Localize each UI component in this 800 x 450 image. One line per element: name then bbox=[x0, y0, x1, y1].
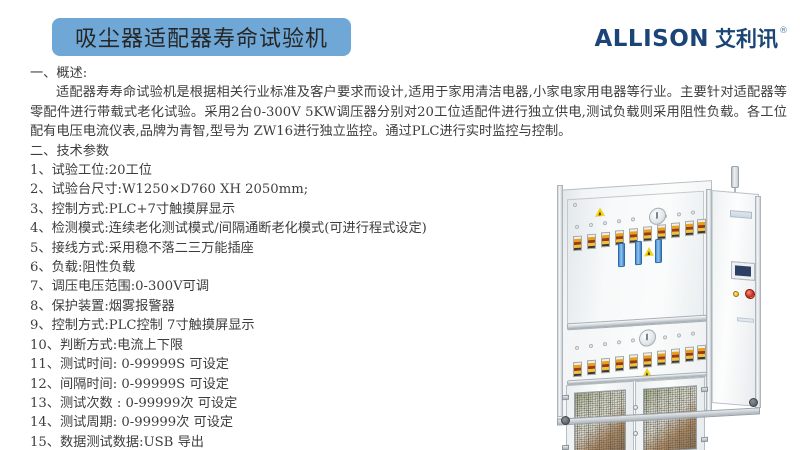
touchscreen-display[interactable] bbox=[732, 262, 754, 280]
frame-post-mid bbox=[706, 189, 712, 415]
panel-hole bbox=[589, 344, 593, 348]
adapter-under-test bbox=[618, 243, 625, 267]
door-hinge bbox=[562, 445, 569, 450]
warning-triangle-icon bbox=[644, 247, 654, 257]
company-logo: ALLISON 艾利讯 ® bbox=[594, 28, 788, 51]
panel-hole bbox=[631, 338, 635, 342]
socket-module bbox=[573, 362, 582, 378]
socket-module bbox=[587, 234, 596, 250]
socket-module bbox=[601, 358, 610, 374]
socket-module bbox=[615, 356, 624, 372]
tower-light-icon bbox=[731, 166, 739, 188]
panel-hole bbox=[617, 219, 621, 223]
socket-module bbox=[573, 236, 582, 252]
socket-module bbox=[601, 232, 610, 248]
panel-hole bbox=[677, 212, 681, 216]
logo-chinese-text: 艾利讯 bbox=[715, 28, 778, 51]
frame-post-left bbox=[557, 185, 563, 417]
socket-module bbox=[671, 348, 680, 364]
door-hinge bbox=[562, 395, 569, 400]
control-knob bbox=[639, 328, 656, 347]
socket-module bbox=[643, 352, 652, 368]
panel-hole bbox=[603, 342, 607, 346]
socket-module bbox=[629, 354, 638, 370]
adapter-under-test bbox=[635, 241, 642, 265]
panel-hole bbox=[631, 217, 635, 221]
slide-page: 吸尘器适配器寿命试验机 ALLISON 艾利讯 ® 一、概述: 适配器寿寿命试验… bbox=[0, 0, 800, 450]
test-machine-illustration bbox=[487, 163, 790, 450]
panel-hole bbox=[677, 333, 681, 337]
door-hinge bbox=[701, 387, 708, 392]
registered-trademark-icon: ® bbox=[779, 26, 788, 36]
panel-hole bbox=[573, 203, 577, 207]
overview-paragraph: 适配器寿寿命试验机是根据相关行业标准及客户要求而设计,适用于家用清洁电器,小家电… bbox=[30, 83, 787, 141]
logo-latin-text: ALLISON bbox=[594, 28, 709, 51]
adapter-under-test bbox=[655, 239, 662, 263]
page-title-banner: 吸尘器适配器寿命试验机 bbox=[52, 18, 351, 56]
panel-hole bbox=[691, 331, 695, 335]
machine-photo bbox=[487, 163, 790, 450]
warning-triangle-icon bbox=[595, 207, 605, 217]
panel-hole bbox=[691, 210, 695, 214]
panel-hole bbox=[617, 340, 621, 344]
socket-module bbox=[657, 224, 666, 240]
panel-hole bbox=[575, 346, 579, 350]
socket-module bbox=[685, 221, 694, 237]
caster-wheel bbox=[749, 398, 758, 407]
start-button[interactable] bbox=[733, 291, 739, 298]
socket-module bbox=[697, 345, 706, 361]
frame-post-right bbox=[755, 196, 761, 408]
specs-heading: 二、技术参数 bbox=[30, 142, 790, 161]
socket-module bbox=[657, 350, 666, 366]
panel-hole bbox=[663, 335, 667, 339]
emergency-stop-button[interactable] bbox=[745, 289, 755, 300]
socket-module bbox=[697, 219, 706, 235]
page-title: 吸尘器适配器寿命试验机 bbox=[75, 21, 328, 53]
door-hinge bbox=[701, 437, 708, 442]
caster-wheel bbox=[561, 416, 570, 425]
socket-module bbox=[587, 360, 596, 376]
socket-module bbox=[671, 222, 680, 238]
overview-heading: 一、概述: bbox=[30, 64, 790, 83]
socket-module bbox=[685, 347, 694, 363]
socket-module bbox=[643, 226, 652, 242]
